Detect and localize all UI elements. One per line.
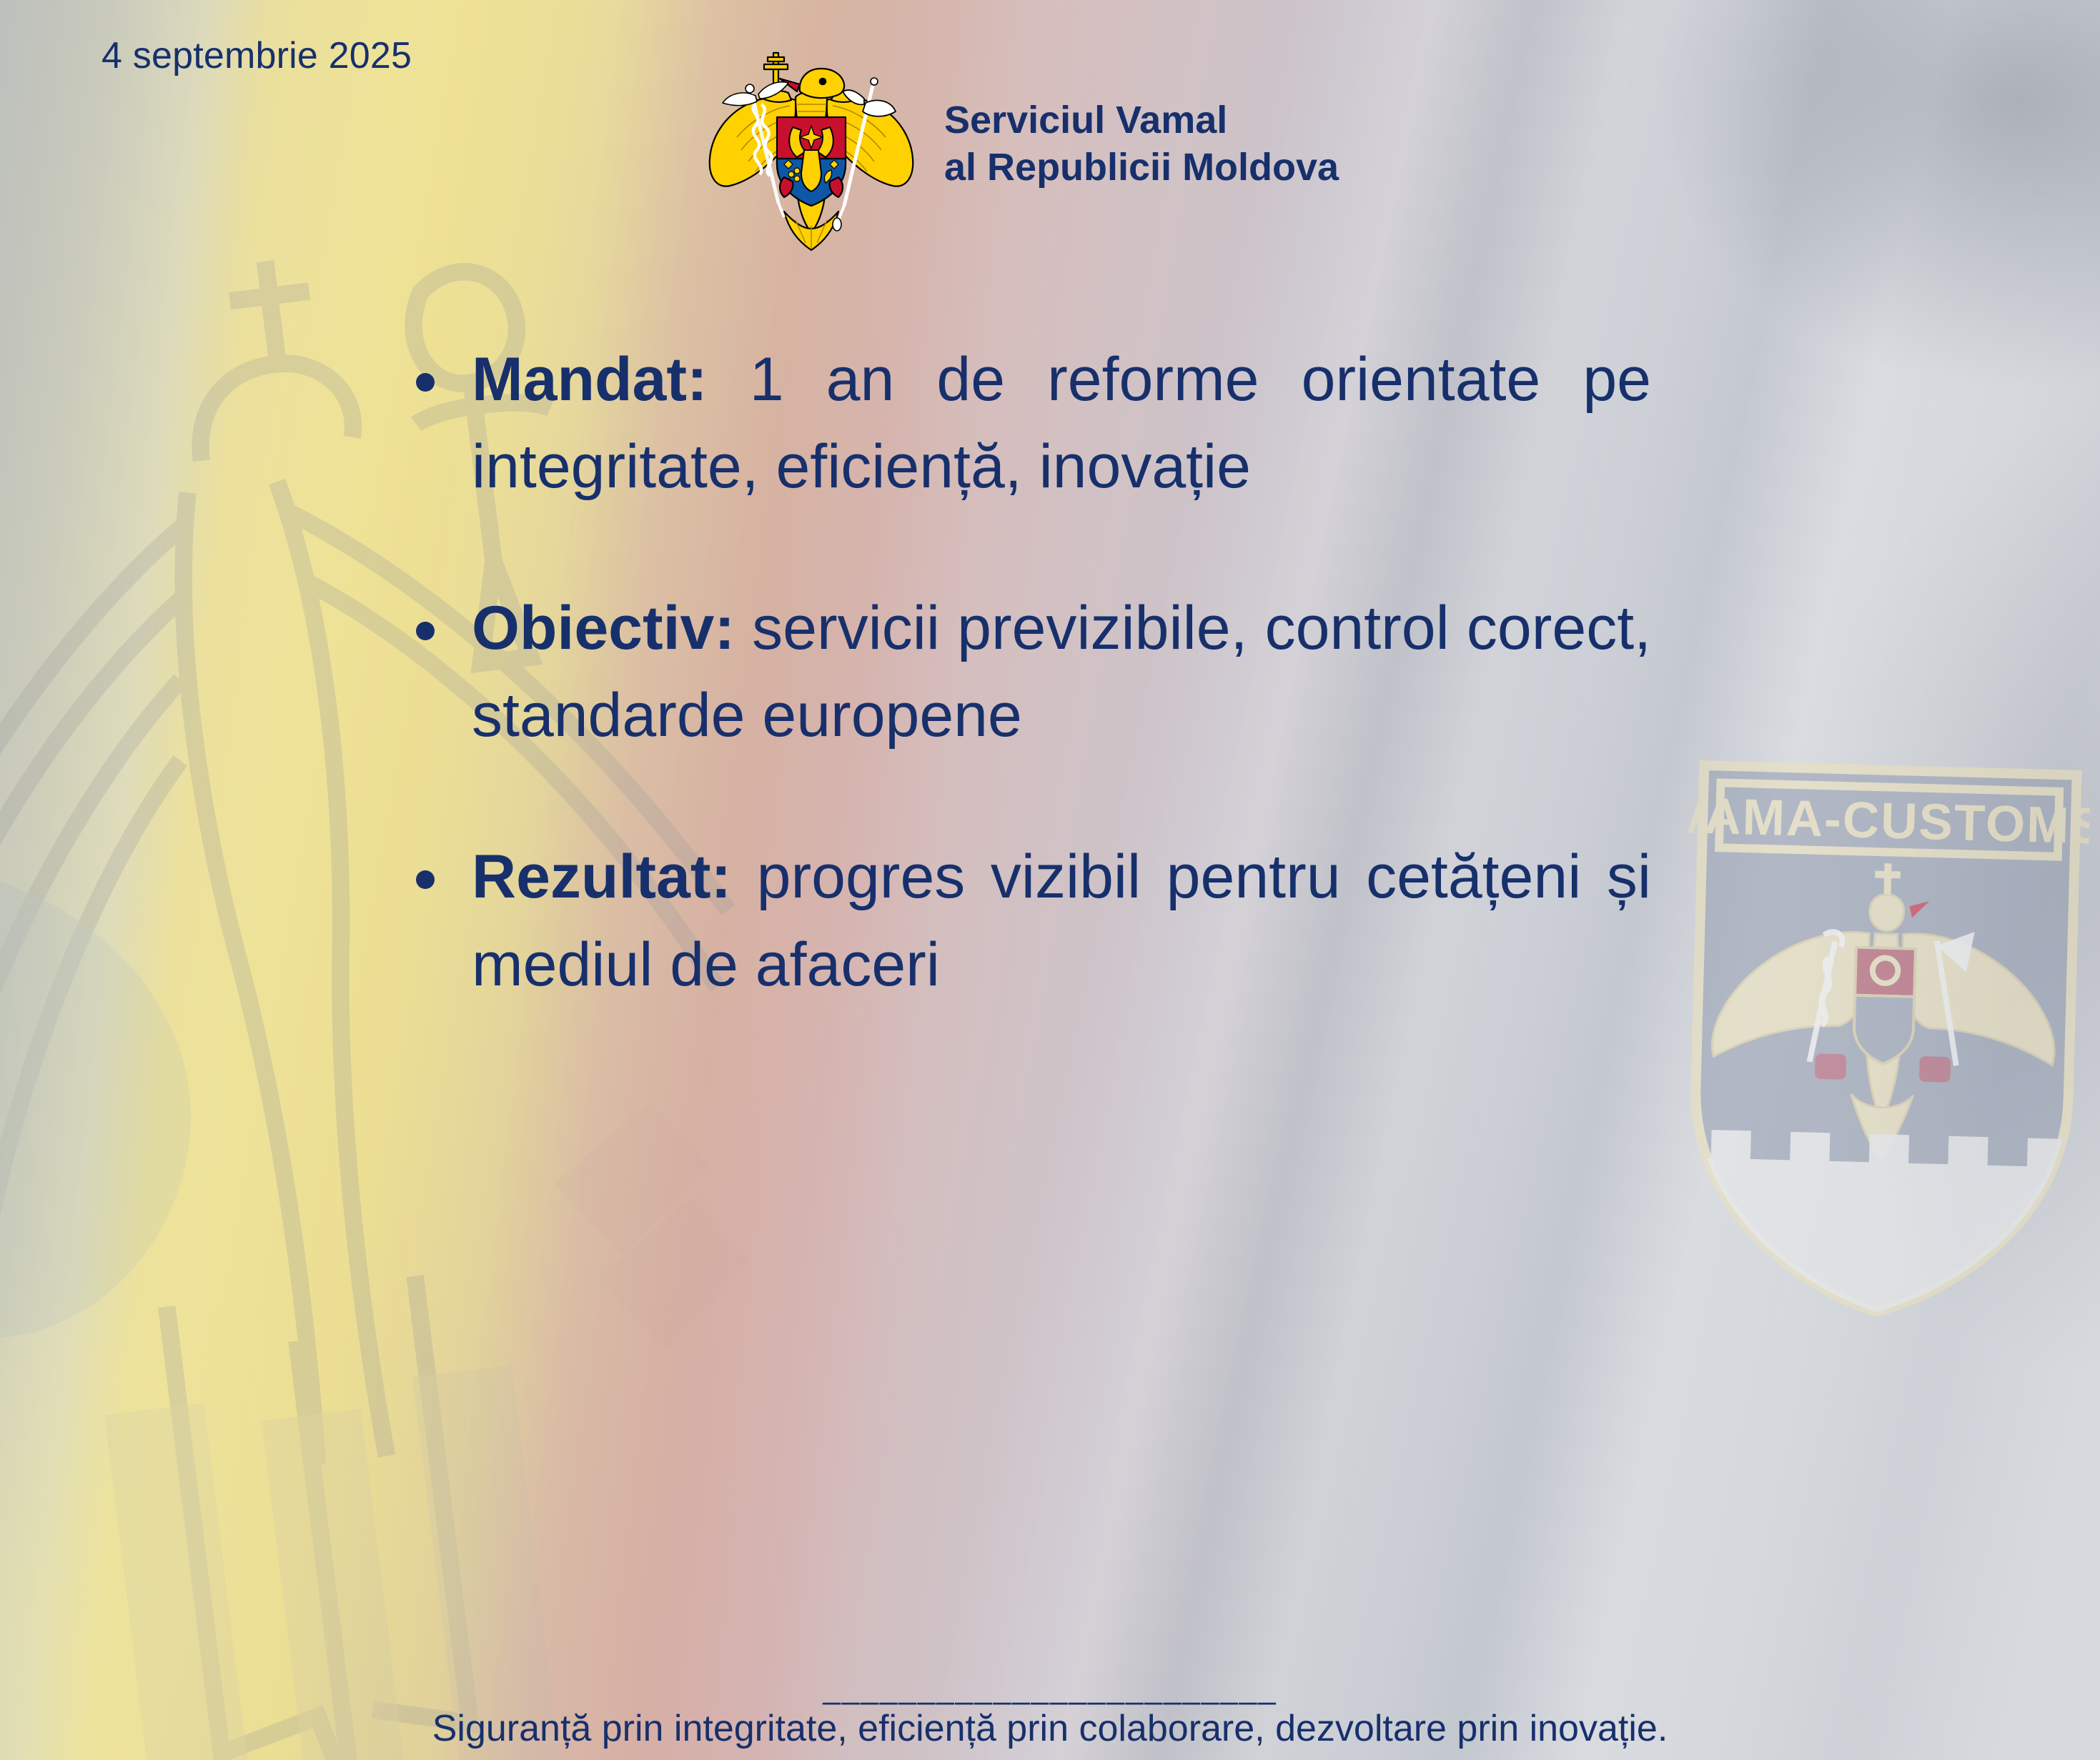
bullet-text: Obiectiv: servicii previzibile, control … — [472, 585, 1651, 759]
footer-divider: ________________________ — [0, 1680, 2100, 1697]
slide-date: 4 septembrie 2025 — [101, 34, 412, 77]
organization-name: Serviciul Vamal al Republicii Moldova — [944, 97, 1339, 192]
bullet-text: Mandat: 1 an de reforme orientate pe int… — [472, 336, 1651, 510]
bullet-dot-icon — [416, 373, 435, 392]
list-item: Obiectiv: servicii previzibile, control … — [400, 585, 1651, 759]
vama-customs-shoulder-patch: VAMA-CUSTOMS — [1676, 754, 2091, 1328]
moldova-customs-eagle-icon — [704, 37, 918, 252]
bullet-dot-icon — [416, 622, 435, 640]
bullet-lead: Obiectiv: — [472, 594, 735, 662]
footer-motto: Siguranță prin integritate, eficiență pr… — [0, 1707, 2100, 1750]
bullet-lead: Mandat: — [472, 345, 708, 414]
presentation-slide: VAMA-CUSTOMS — [0, 0, 2100, 1760]
organization-name-line2: al Republicii Moldova — [944, 144, 1339, 192]
list-item: Mandat: 1 an de reforme orientate pe int… — [400, 336, 1651, 510]
bullet-dot-icon — [416, 870, 435, 889]
brand-header: Serviciul Vamal al Republicii Moldova — [704, 37, 1339, 252]
organization-name-line1: Serviciul Vamal — [944, 97, 1339, 144]
bullet-text: Rezultat: progres vizibil pentru cetățen… — [472, 833, 1651, 1008]
patch-label: VAMA-CUSTOMS — [1676, 787, 2091, 855]
bullet-list: Mandat: 1 an de reforme orientate pe int… — [400, 336, 1651, 1008]
bullet-lead: Rezultat: — [472, 842, 731, 911]
slide-footer: ________________________ Siguranță prin … — [0, 1680, 2100, 1750]
list-item: Rezultat: progres vizibil pentru cetățen… — [400, 833, 1651, 1008]
